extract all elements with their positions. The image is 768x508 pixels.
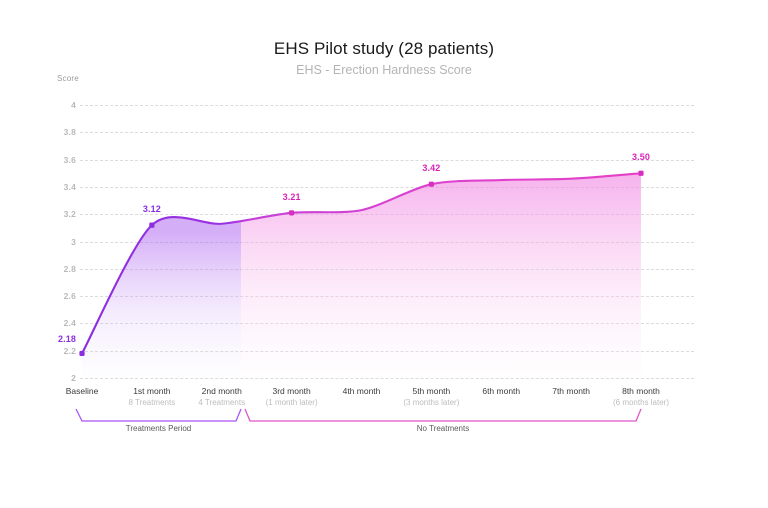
x-axis-tick-label: 7th month — [552, 386, 590, 397]
x-axis-tick-note: 8 Treatments — [129, 397, 176, 408]
data-point-marker[interactable] — [79, 351, 84, 356]
annotation-brackets — [76, 409, 641, 421]
x-axis-tick-label: Baseline — [66, 386, 99, 397]
x-axis-tick-note: (3 months later) — [403, 397, 459, 408]
x-axis-tick: 4th month — [343, 386, 381, 397]
data-point-label: 3.50 — [632, 152, 650, 162]
x-axis-tick: 5th month(3 months later) — [403, 386, 459, 408]
data-point-marker[interactable] — [289, 210, 294, 215]
x-axis-tick-label: 2nd month — [198, 386, 245, 397]
x-axis-tick: 1st month8 Treatments — [129, 386, 176, 408]
plot-area — [0, 0, 768, 508]
data-point-label: 2.18 — [58, 334, 76, 344]
x-axis-tick-label: 6th month — [482, 386, 520, 397]
x-axis-tick: 8th month(6 months later) — [613, 386, 669, 408]
bracket-treatments-period — [76, 409, 241, 421]
x-axis-tick-note: 4 Treatments — [198, 397, 245, 408]
data-point-label: 3.42 — [422, 163, 440, 173]
data-point-marker[interactable] — [429, 182, 434, 187]
data-point-marker[interactable] — [149, 223, 154, 228]
data-point-label: 3.12 — [143, 204, 161, 214]
x-axis-tick-label: 5th month — [403, 386, 459, 397]
x-axis-tick: 7th month — [552, 386, 590, 397]
x-axis-tick-note: (6 months later) — [613, 397, 669, 408]
bracket-no-treatments — [245, 409, 641, 421]
x-axis-tick-label: 4th month — [343, 386, 381, 397]
x-axis-tick-label: 8th month — [613, 386, 669, 397]
x-axis-tick-label: 1st month — [129, 386, 176, 397]
x-axis-tick-label: 3rd month — [266, 386, 318, 397]
bracket-caption: No Treatments — [417, 424, 469, 433]
x-axis-tick: 6th month — [482, 386, 520, 397]
x-axis-tick: 3rd month(1 month later) — [266, 386, 318, 408]
x-axis-tick: 2nd month4 Treatments — [198, 386, 245, 408]
data-point-marker[interactable] — [638, 171, 643, 176]
chart-container: EHS Pilot study (28 patients) EHS - Erec… — [0, 0, 768, 508]
x-axis-tick: Baseline — [66, 386, 99, 397]
data-point-label: 3.21 — [283, 192, 301, 202]
bracket-caption: Treatments Period — [126, 424, 192, 433]
x-axis-tick-note: (1 month later) — [266, 397, 318, 408]
